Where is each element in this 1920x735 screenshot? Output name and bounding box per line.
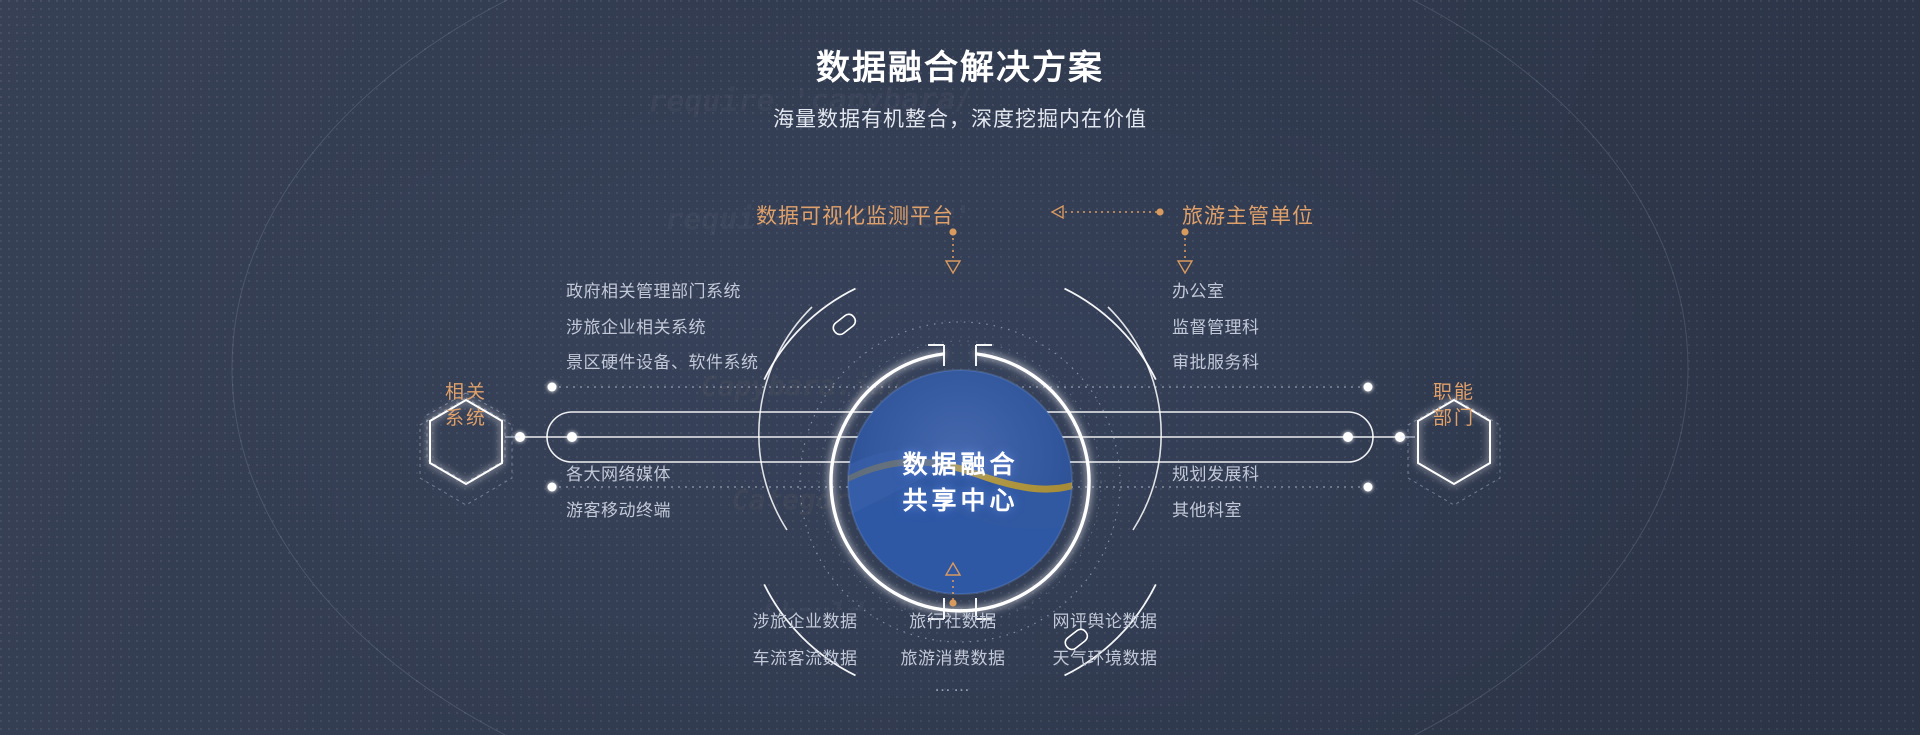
bottom-item-travel-agency-data: 旅行社数据	[909, 607, 997, 632]
bottom-item-tourism-consumption-data: 旅游消费数据	[901, 644, 1006, 669]
bottom-item-enterprise-data: 涉旅企业数据	[753, 607, 858, 632]
bottom-ellipsis: ……	[934, 676, 972, 696]
right-item-approval-service-dept: 审批服务科	[1172, 348, 1260, 373]
left-badge-line2: 系统	[445, 406, 487, 432]
left-item-network-media: 各大网络媒体	[566, 460, 671, 485]
right-item-other-depts: 其他科室	[1172, 496, 1242, 521]
left-item-tourist-mobile-terminal: 游客移动终端	[566, 496, 671, 521]
right-item-planning-dept: 规划发展科	[1172, 460, 1260, 485]
bottom-item-traffic-flow-data: 车流客流数据	[753, 644, 858, 669]
node-tourism-authority[interactable]: 旅游主管单位	[1182, 200, 1314, 230]
right-badge-label: 职能 部门	[1433, 380, 1475, 432]
right-badge-line2: 部门	[1433, 406, 1475, 432]
right-item-office: 办公室	[1172, 277, 1225, 302]
left-badge-line1: 相关	[445, 380, 487, 406]
infographic-canvas: require 'capybara/ require 'builder' Cap…	[0, 0, 1920, 735]
page-title: 数据融合解决方案	[0, 40, 1920, 89]
core-globe	[840, 370, 1085, 600]
page-subtitle: 海量数据有机整合，深度挖掘内在价值	[0, 103, 1920, 133]
left-item-scenic-hardware-software: 景区硬件设备、软件系统	[566, 348, 759, 373]
left-item-tourism-enterprise-systems: 涉旅企业相关系统	[566, 313, 706, 338]
bottom-item-online-review-data: 网评舆论数据	[1053, 607, 1158, 632]
right-badge-line1: 职能	[1433, 380, 1475, 406]
left-badge-label: 相关 系统	[445, 380, 487, 432]
bottom-item-weather-environment-data: 天气环境数据	[1053, 644, 1158, 669]
right-item-supervision-dept: 监督管理科	[1172, 313, 1260, 338]
left-item-government-systems: 政府相关管理部门系统	[566, 277, 741, 302]
node-visualization-platform[interactable]: 数据可视化监测平台	[756, 200, 954, 230]
